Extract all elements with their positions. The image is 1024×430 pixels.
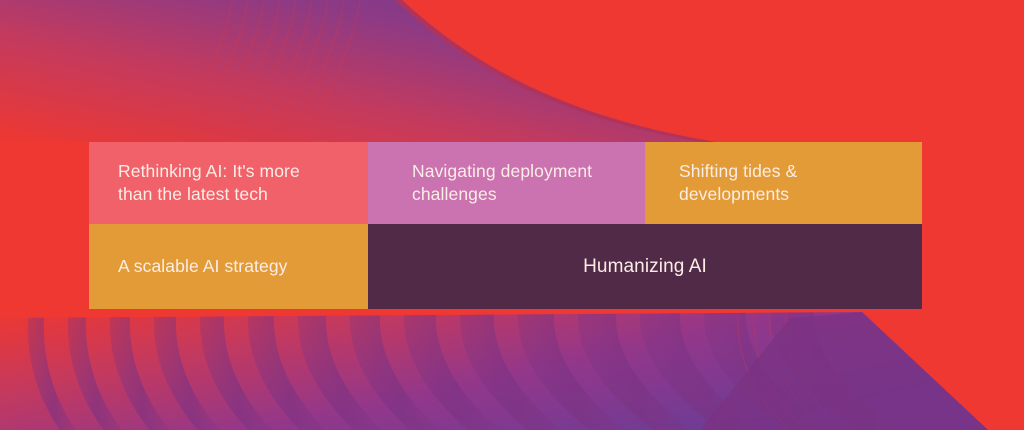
tile-row-bottom: A scalable AI strategy Humanizing AI: [89, 224, 922, 309]
tile-row-top: Rethinking AI: It's more than the latest…: [89, 142, 922, 224]
bottom-swoosh-group: [0, 312, 988, 430]
tile-humanizing-ai-label: Humanizing AI: [583, 254, 707, 279]
tile-navigating-deployment-label: Navigating deployment challenges: [412, 160, 592, 207]
topic-tile-grid: Rethinking AI: It's more than the latest…: [89, 142, 922, 309]
slide-canvas: Rethinking AI: It's more than the latest…: [0, 0, 1024, 430]
tile-rethinking-ai[interactable]: Rethinking AI: It's more than the latest…: [89, 142, 368, 224]
tile-scalable-strategy[interactable]: A scalable AI strategy: [89, 224, 368, 309]
tile-shifting-tides-label: Shifting tides & developments: [679, 160, 797, 207]
tile-rethinking-ai-label: Rethinking AI: It's more than the latest…: [118, 160, 300, 207]
tile-navigating-deployment[interactable]: Navigating deployment challenges: [368, 142, 645, 224]
top-swoosh-group: [0, 0, 1024, 142]
tile-scalable-strategy-label: A scalable AI strategy: [118, 255, 288, 278]
tile-shifting-tides[interactable]: Shifting tides & developments: [645, 142, 922, 224]
tile-humanizing-ai[interactable]: Humanizing AI: [368, 224, 922, 309]
